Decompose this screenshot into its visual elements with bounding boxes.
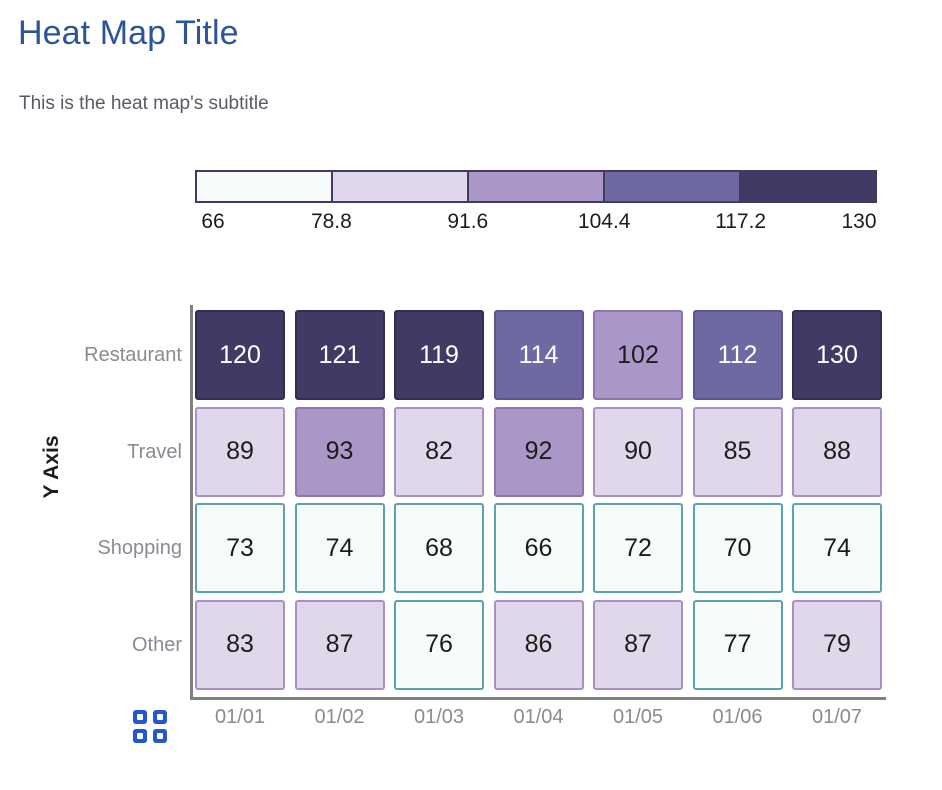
heatmap-cell[interactable]: 92: [494, 407, 584, 497]
x-axis-line: [190, 697, 886, 700]
heatmap-cell[interactable]: 79: [792, 600, 882, 690]
heatmap-cell[interactable]: 85: [693, 407, 783, 497]
heatmap-cell[interactable]: 77: [693, 600, 783, 690]
grid-icon-square-top-left: [133, 710, 147, 724]
y-axis-tick-labels: RestaurantTravelShoppingOther: [20, 307, 182, 695]
heatmap-cell[interactable]: 74: [792, 503, 882, 593]
y-axis-tick-label-restaurant: Restaurant: [20, 307, 182, 404]
heatmap-cell[interactable]: 130: [792, 310, 882, 400]
x-axis-tick-label: 01/04: [490, 706, 588, 729]
heatmap-cell[interactable]: 70: [693, 503, 783, 593]
y-axis-tick-label-shopping: Shopping: [20, 500, 182, 597]
x-axis-tick-label: 01/06: [689, 706, 787, 729]
heatmap-cell[interactable]: 121: [295, 310, 385, 400]
heatmap-cell[interactable]: 76: [394, 600, 484, 690]
x-axis-tick-label: 01/07: [788, 706, 886, 729]
heatmap-cell[interactable]: 90: [593, 407, 683, 497]
heatmap-cell[interactable]: 83: [195, 600, 285, 690]
heatmap-row: 73746866727074: [195, 501, 885, 598]
x-axis-tick-label: 01/05: [589, 706, 687, 729]
heatmap-cell[interactable]: 74: [295, 503, 385, 593]
x-axis-tick-labels: 01/0101/0201/0301/0401/0501/0601/07: [195, 706, 885, 738]
heatmap-cell[interactable]: 73: [195, 503, 285, 593]
y-axis-line: [190, 305, 193, 697]
y-axis-tick-label-other: Other: [20, 597, 182, 694]
heatmap-cell[interactable]: 82: [394, 407, 484, 497]
heatmap-row: 83877686877779: [195, 598, 885, 695]
heatmap-cell[interactable]: 114: [494, 310, 584, 400]
grid-icon-square-top-right: [153, 710, 167, 724]
grid-icon-square-bottom-left: [133, 729, 147, 743]
heatmap-cell[interactable]: 119: [394, 310, 484, 400]
heatmap-cell[interactable]: 87: [295, 600, 385, 690]
x-axis-tick-label: 01/03: [390, 706, 488, 729]
x-axis-tick-label: 01/02: [291, 706, 389, 729]
heatmap-cell[interactable]: 112: [693, 310, 783, 400]
grid-toggle-icon[interactable]: [133, 710, 171, 744]
heatmap-cell[interactable]: 88: [792, 407, 882, 497]
heatmap-row: 120121119114102112130: [195, 308, 885, 405]
heatmap-cell[interactable]: 86: [494, 600, 584, 690]
heatmap-cell[interactable]: 102: [593, 310, 683, 400]
heatmap-cell[interactable]: 68: [394, 503, 484, 593]
heatmap-cell[interactable]: 89: [195, 407, 285, 497]
heatmap-grid: 1201211191141021121308993829290858873746…: [195, 308, 885, 694]
y-axis-tick-label-travel: Travel: [20, 404, 182, 501]
heatmap-cell[interactable]: 72: [593, 503, 683, 593]
heatmap-row: 89938292908588: [195, 405, 885, 502]
heatmap-cell[interactable]: 93: [295, 407, 385, 497]
x-axis-tick-label: 01/01: [191, 706, 289, 729]
grid-icon-square-bottom-right: [153, 729, 167, 743]
heatmap-cell[interactable]: 120: [195, 310, 285, 400]
heatmap-plot: Y Axis RestaurantTravelShoppingOther 120…: [0, 0, 942, 790]
heatmap-cell[interactable]: 66: [494, 503, 584, 593]
heatmap-cell[interactable]: 87: [593, 600, 683, 690]
